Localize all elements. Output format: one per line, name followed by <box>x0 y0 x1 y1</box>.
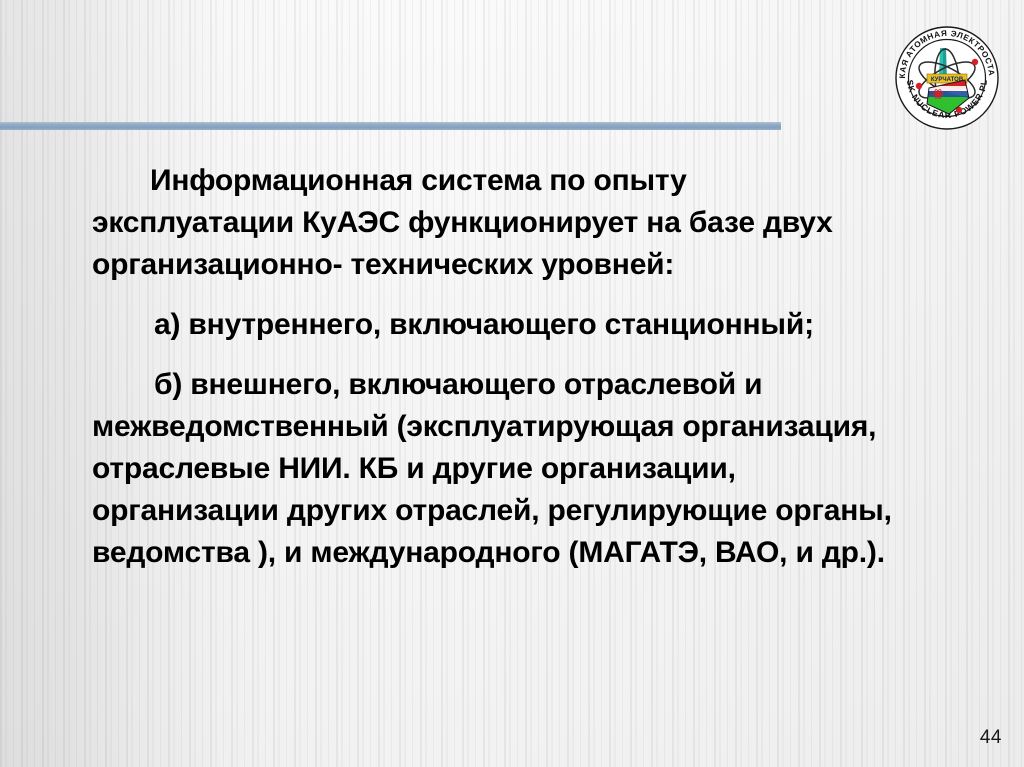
paragraph-item-b: б) внешнего, включающего отраслевой и ме… <box>92 364 892 574</box>
paragraph-intro: Информационная система по опыту эксплуат… <box>92 160 892 286</box>
kursk-nuclear-power-plant-logo-icon: КУРСКАЯ АТОМНАЯ ЭЛЕКТРОСТАНЦИЯ KURSK NUC… <box>893 24 1001 132</box>
page-number: 44 <box>980 727 1002 749</box>
paragraph-item-a: а) внутреннего, включающего станционный; <box>92 304 892 346</box>
presentation-slide: КУРСКАЯ АТОМНАЯ ЭЛЕКТРОСТАНЦИЯ KURSK NUC… <box>0 0 1024 767</box>
header-divider-rule <box>0 122 781 130</box>
slide-body: Информационная система по опыту эксплуат… <box>92 160 892 574</box>
